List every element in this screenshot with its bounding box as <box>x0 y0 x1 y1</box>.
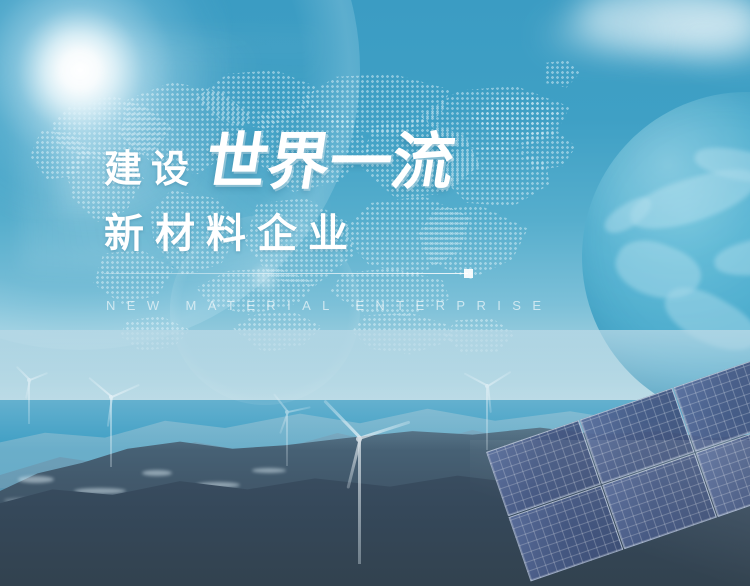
hero-banner: 建设 世界一流 新材料企业 NEW MATERIAL ENTERPRISE <box>0 0 750 586</box>
divider-end-marker <box>464 269 473 278</box>
headline-emphasis-text: 世界一流 <box>201 131 459 193</box>
subtitle-english: NEW MATERIAL ENTERPRISE <box>106 298 552 313</box>
headline-block: 建设 世界一流 新材料企业 NEW MATERIAL ENTERPRISE <box>0 0 750 586</box>
headline-primary-text: 建设 <box>104 150 198 188</box>
divider-line <box>104 273 468 274</box>
headline-line-2: 新材料企业 <box>104 214 359 254</box>
headline-line-1: 建设 世界一流 <box>104 131 454 193</box>
